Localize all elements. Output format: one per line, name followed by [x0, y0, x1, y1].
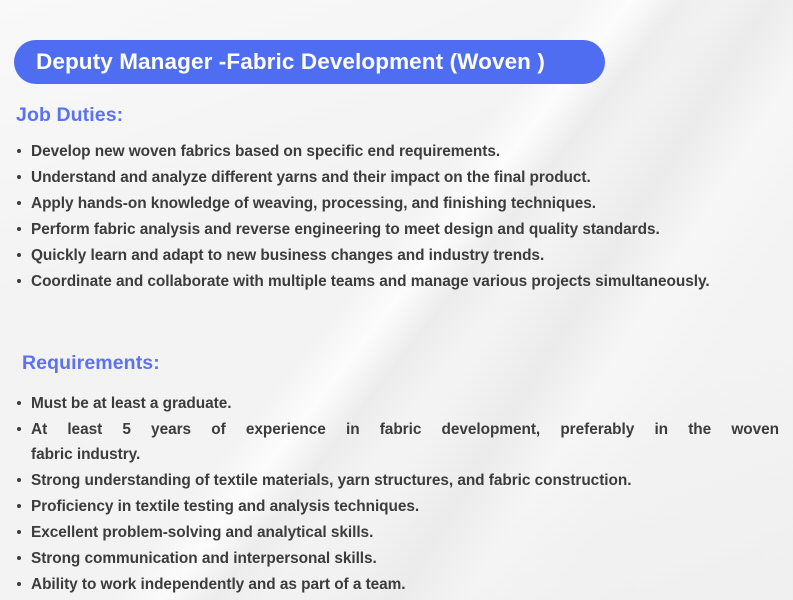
- list-item: Must be at least a graduate.: [14, 391, 779, 416]
- list-item: Strong understanding of textile material…: [14, 468, 779, 493]
- list-item: At least 5 years of experience in fabric…: [14, 417, 779, 467]
- section-heading-requirements: Requirements:: [22, 354, 160, 374]
- list-item: Quickly learn and adapt to new business …: [14, 243, 779, 268]
- page-title: Deputy Manager -Fabric Development (Wove…: [36, 51, 545, 74]
- section-heading-job-duties: Job Duties:: [16, 106, 123, 126]
- list-item: Understand and analyze different yarns a…: [14, 165, 779, 190]
- list-item: Proficiency in textile testing and analy…: [14, 494, 779, 519]
- list-item: Coordinate and collaborate with multiple…: [14, 269, 779, 294]
- list-item: Excellent problem-solving and analytical…: [14, 520, 779, 545]
- list-item: Perform fabric analysis and reverse engi…: [14, 217, 779, 242]
- list-item-line-continuation: fabric industry.: [31, 442, 779, 467]
- job-title-banner: Deputy Manager -Fabric Development (Wove…: [14, 40, 605, 84]
- list-item: Develop new woven fabrics based on speci…: [14, 139, 779, 164]
- list-item: Ability to work independently and as par…: [14, 572, 779, 597]
- job-duties-list: Develop new woven fabrics based on speci…: [14, 139, 779, 295]
- list-item: Strong communication and interpersonal s…: [14, 546, 779, 571]
- requirements-list: Must be at least a graduate. At least 5 …: [14, 391, 779, 598]
- list-item-line-primary: At least 5 years of experience in fabric…: [31, 417, 779, 442]
- job-posting-poster: Deputy Manager -Fabric Development (Wove…: [0, 0, 793, 600]
- list-item: Apply hands-on knowledge of weaving, pro…: [14, 191, 779, 216]
